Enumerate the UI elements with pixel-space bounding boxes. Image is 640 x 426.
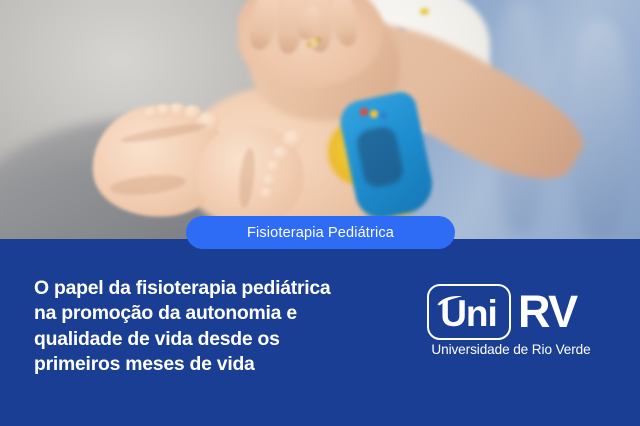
baby-toe — [144, 107, 158, 119]
logo-rv-text: RV — [518, 289, 577, 334]
promotional-banner: Fisioterapia Pediátrica O papel da fisio… — [0, 0, 640, 426]
category-badge[interactable]: Fisioterapia Pediátrica — [186, 216, 455, 249]
baby-feet-photo — [0, 0, 640, 240]
logo-subtitle: Universidade de Rio Verde — [427, 342, 595, 357]
headline-line-1: O papel da fisioterapia pediátrica — [34, 276, 404, 301]
baby-toe — [156, 104, 171, 117]
swoosh-icon — [437, 293, 463, 304]
headline-title: O papel da fisioterapia pediátrica na pr… — [34, 276, 404, 377]
unirv-logo[interactable]: Uni RV Universidade de Rio Verde — [427, 284, 595, 358]
logo-wordmark-row: Uni RV — [427, 284, 577, 340]
baby-toe — [282, 130, 303, 148]
headline-line-3: qualidade de vida desde os — [34, 327, 404, 352]
shirt-fold — [570, 20, 630, 240]
toy-accent-dot — [360, 108, 368, 116]
headline-line-4: primeiros meses de vida — [34, 352, 404, 377]
baby-toe — [183, 105, 201, 120]
baby-toe — [260, 187, 273, 199]
baby-toe — [272, 146, 289, 161]
toy-accent-dot — [370, 110, 378, 118]
baby-toe — [266, 160, 281, 174]
headline-line-2: na promoção da autonomia e — [34, 301, 404, 326]
baby-toe — [262, 174, 276, 187]
baby-toe — [169, 103, 185, 117]
onesie-pattern-dot — [420, 8, 429, 15]
toy-accent-dot — [380, 112, 387, 119]
category-badge-label: Fisioterapia Pediátrica — [247, 225, 394, 241]
logo-uni-box: Uni — [427, 284, 511, 340]
